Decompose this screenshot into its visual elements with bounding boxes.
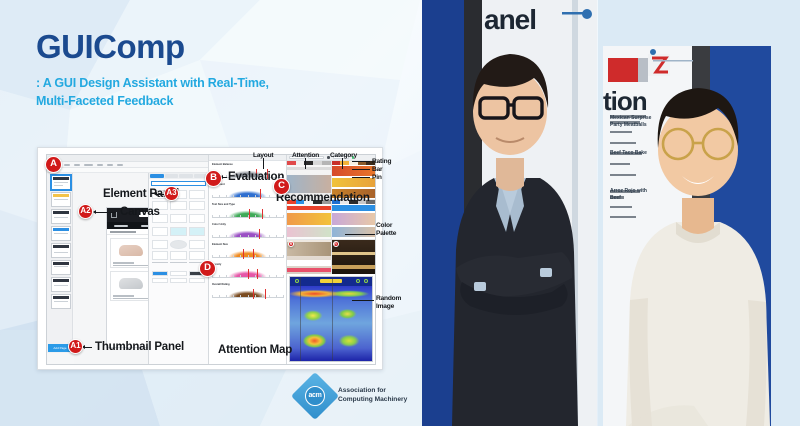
- product-card[interactable]: [110, 238, 152, 268]
- callout-attention-map: Attention Map: [218, 344, 292, 356]
- axis-tick: [255, 235, 256, 238]
- leader-line: [96, 212, 116, 213]
- axis-tick: [226, 295, 227, 298]
- axis-tick: [276, 295, 277, 298]
- axis-tick: [240, 255, 241, 258]
- axis-tick: [219, 195, 220, 198]
- axis-tick: [276, 275, 277, 278]
- button-tile-ghost[interactable]: [189, 278, 205, 283]
- evaluation-metric-row[interactable]: Element Size: [209, 241, 286, 261]
- thumbnail-item[interactable]: [51, 226, 71, 241]
- evaluation-rating-bar[interactable]: [212, 267, 283, 280]
- axis-tick: [219, 235, 220, 238]
- axis-tick: [240, 215, 241, 218]
- button-tile-primary[interactable]: [152, 271, 168, 276]
- axis-tick: [219, 255, 220, 258]
- evaluation-rating-bar[interactable]: [212, 287, 283, 300]
- callout-random-line-1: Random: [376, 295, 401, 302]
- random-image-badge: R: [288, 241, 294, 247]
- button-tile-ghost[interactable]: [170, 278, 186, 283]
- subtitle-line-1: : A GUI Design Assistant with Real-Time,: [36, 74, 269, 92]
- acm-wordmark: Association for Computing Machinery: [338, 387, 407, 405]
- evaluation-metric-label: Overall Rating: [212, 283, 283, 286]
- shape-tile-rect[interactable]: [152, 240, 168, 249]
- poster-item-2: Beef Taco Bake: [610, 150, 652, 156]
- element-tile[interactable]: [170, 227, 186, 236]
- axis-tick: [248, 255, 249, 258]
- axis-tick: [283, 255, 284, 258]
- axis-tick: [233, 195, 234, 198]
- callout-attention: Attention: [292, 152, 319, 160]
- badge-a2: A2: [78, 204, 93, 219]
- product-image: [111, 272, 151, 294]
- axis-tick: [283, 215, 284, 218]
- shape-tile-diagonal[interactable]: [189, 251, 205, 260]
- axis-tick: [233, 255, 234, 258]
- poster-text-left: anel: [484, 4, 536, 36]
- axis-tick: [269, 255, 270, 258]
- recommendation-preview: [287, 204, 331, 238]
- callout-random-image: Random Image: [376, 295, 401, 310]
- thumbnail-panel[interactable]: Add Page: [47, 173, 73, 353]
- callout-category: Category: [330, 152, 357, 160]
- axis-tick: [240, 235, 241, 238]
- recommendation-item-random[interactable]: R: [332, 240, 376, 274]
- leader-line: [352, 169, 370, 170]
- element-tile[interactable]: [152, 227, 168, 236]
- cart-icon: [364, 279, 368, 283]
- thumbnail-item[interactable]: [51, 294, 71, 309]
- axis-tick: [283, 235, 284, 238]
- shape-tile-circle[interactable]: [170, 240, 186, 249]
- left-content-pane: GUIComp : A GUI Design Assistant with Re…: [0, 0, 422, 426]
- callout-color-palette: Color Palette: [376, 222, 396, 237]
- acm-mark: acm: [305, 386, 325, 406]
- shape-tile-line[interactable]: [152, 262, 168, 267]
- callout-rating: Rating: [372, 158, 391, 166]
- shape-tile-diagonal[interactable]: [170, 251, 186, 260]
- leader-line: [342, 158, 343, 169]
- menu-item[interactable]: [64, 164, 70, 166]
- shape-tile-cross[interactable]: [152, 251, 168, 260]
- axis-tick: [248, 235, 249, 238]
- thumbnail-item[interactable]: [51, 175, 71, 190]
- evaluation-rating-bar[interactable]: [212, 187, 283, 200]
- callout-recommendation: Recommendation: [276, 192, 370, 204]
- badge-a3: A3: [164, 186, 179, 201]
- axis-tick: [226, 255, 227, 258]
- poster-item-3: Arroz Rojo with Beef: [610, 188, 652, 201]
- tab-media[interactable]: [179, 174, 193, 178]
- leader-line: [305, 158, 306, 169]
- axis-tick: [212, 195, 213, 198]
- element-tile[interactable]: [189, 227, 205, 236]
- rating-pin[interactable]: [257, 269, 258, 279]
- axis-tick: [233, 215, 234, 218]
- thumbnail-item[interactable]: [51, 260, 71, 275]
- axis-tick: [226, 235, 227, 238]
- guide-line: [300, 277, 301, 361]
- tab-chart[interactable]: [165, 174, 179, 178]
- thumbnail-item[interactable]: [51, 277, 71, 292]
- attention-map[interactable]: [289, 276, 373, 362]
- poster-text-right: tion: [603, 86, 647, 117]
- axis-tick: [212, 215, 213, 218]
- title-block: GUIComp : A GUI Design Assistant with Re…: [36, 30, 269, 110]
- photo-left-graphic: [422, 0, 597, 426]
- callout-canvas: Canvas: [120, 206, 160, 218]
- photo-right-graphic: [598, 0, 800, 426]
- element-tile[interactable]: [170, 214, 186, 223]
- axis-tick: [212, 255, 213, 258]
- leader-line: [352, 300, 374, 301]
- axis-tick: [262, 195, 263, 198]
- element-panel-tabs[interactable]: [149, 173, 208, 179]
- menu-item[interactable]: [84, 164, 93, 166]
- product-meta: [111, 261, 151, 267]
- rating-pin[interactable]: [253, 249, 254, 259]
- axis-tick: [212, 235, 213, 238]
- axis-tick: [212, 295, 213, 298]
- product-image: [111, 239, 151, 261]
- badge-d: D: [199, 260, 216, 277]
- badge-a1: A1: [68, 339, 83, 354]
- axis-tick: [240, 295, 241, 298]
- axis-tick: [276, 235, 277, 238]
- callout-color-line-2: Palette: [376, 230, 396, 237]
- axis-tick: [255, 215, 256, 218]
- axis-tick: [248, 295, 249, 298]
- menu-icon: [295, 279, 299, 283]
- axis-tick: [226, 195, 227, 198]
- presenter-photo-right: tion Mexican Surprise Party Meatballs Be…: [598, 0, 800, 426]
- shape-tile-square[interactable]: [189, 240, 205, 249]
- evaluation-metric-label: Density: [212, 263, 283, 266]
- evaluation-rating-bar[interactable]: [212, 207, 283, 220]
- page-title: GUIComp: [36, 30, 269, 63]
- subtitle-line-2: Multi-Faceted Feedback: [36, 92, 269, 110]
- axis-tick: [240, 275, 241, 278]
- axis-tick: [269, 295, 270, 298]
- axis-tick: [283, 295, 284, 298]
- rating-pin[interactable]: [248, 269, 249, 279]
- panel-a-editor: Add Page: [47, 155, 209, 364]
- evaluation-rating-bar[interactable]: [212, 227, 283, 240]
- axis-tick: [283, 275, 284, 278]
- axis-tick: [255, 195, 256, 198]
- evaluation-metric-label: Element Size: [212, 243, 283, 246]
- thumbnail-item[interactable]: [51, 209, 71, 224]
- rating-pin[interactable]: [259, 229, 260, 239]
- rating-pin[interactable]: [262, 209, 263, 219]
- recommendation-item-random[interactable]: R: [287, 240, 331, 274]
- rating-pin[interactable]: [253, 289, 254, 299]
- acm-diamond-icon: acm: [298, 379, 332, 413]
- menu-item[interactable]: [117, 164, 123, 166]
- axis-tick: [226, 275, 227, 278]
- leader-line: [345, 234, 375, 235]
- axis-tick: [233, 235, 234, 238]
- evaluation-metric-row[interactable]: Density: [209, 261, 286, 281]
- shape-tile-line[interactable]: [170, 262, 186, 267]
- axis-tick: [276, 215, 277, 218]
- badge-b: B: [205, 170, 222, 187]
- recommendation-item[interactable]: [287, 200, 331, 238]
- axis-tick: [269, 275, 270, 278]
- app-titlebar: [47, 155, 208, 162]
- callout-color-line-1: Color: [376, 222, 392, 229]
- axis-tick: [226, 215, 227, 218]
- leader-line: [85, 347, 92, 348]
- element-section-input: [149, 225, 208, 238]
- evaluation-metric-label: Element Balance: [212, 163, 283, 166]
- tab-basic[interactable]: [150, 174, 164, 178]
- evaluation-rating-bar[interactable]: [212, 247, 283, 260]
- menu-item[interactable]: [107, 164, 113, 166]
- evaluation-metric-row[interactable]: Color Unity: [209, 221, 286, 241]
- rating-pin[interactable]: [265, 289, 266, 299]
- page-subtitle: : A GUI Design Assistant with Real-Time,…: [36, 74, 269, 110]
- thumbnail-item[interactable]: [51, 192, 71, 207]
- axis-tick: [262, 235, 263, 238]
- badge-a: A: [45, 156, 62, 173]
- leader-line: [352, 161, 370, 162]
- leader-line: [263, 158, 264, 169]
- guide-line: [332, 277, 333, 361]
- axis-tick: [262, 275, 263, 278]
- axis-tick: [269, 215, 270, 218]
- thumbnail-item[interactable]: [51, 243, 71, 258]
- acm-logo: acm Association for Computing Machinery: [298, 379, 407, 413]
- search-icon: [356, 279, 360, 283]
- badge-c: C: [273, 178, 290, 195]
- axis-tick: [240, 195, 241, 198]
- axis-tick: [248, 195, 249, 198]
- button-tile-ghost[interactable]: [152, 278, 168, 283]
- axis-tick: [269, 195, 270, 198]
- menu-item[interactable]: [74, 164, 80, 166]
- random-image-badge: R: [333, 241, 339, 247]
- callout-thumbnail-panel: Thumbnail Panel: [95, 341, 184, 353]
- element-tile[interactable]: [189, 190, 205, 199]
- rating-pin[interactable]: [260, 189, 261, 199]
- poster-item-1: Mexican Surprise Party Meatballs: [610, 115, 652, 128]
- axis-tick: [255, 255, 256, 258]
- axis-tick: [219, 295, 220, 298]
- recommendation-item[interactable]: [332, 200, 376, 238]
- axis-tick: [233, 295, 234, 298]
- slide-canvas: GUIComp : A GUI Design Assistant with Re…: [0, 0, 800, 426]
- menu-item[interactable]: [97, 164, 103, 166]
- evaluation-metric-row[interactable]: Text Size and Type: [209, 201, 286, 221]
- axis-tick: [219, 215, 220, 218]
- axis-tick: [255, 295, 256, 298]
- acm-line-1: Association for: [338, 387, 407, 396]
- axis-tick: [233, 275, 234, 278]
- product-card[interactable]: [110, 271, 152, 301]
- rating-pin[interactable]: [249, 209, 250, 219]
- element-search-input[interactable]: [151, 181, 206, 186]
- axis-tick: [255, 275, 256, 278]
- callout-random-line-2: Image: [376, 303, 394, 310]
- evaluation-metric-label: Text Size and Type: [212, 203, 283, 206]
- acm-line-2: Computing Machinery: [338, 396, 407, 405]
- axis-tick: [262, 255, 263, 258]
- element-tile[interactable]: [189, 201, 205, 210]
- callout-layout: Layout: [253, 152, 273, 160]
- axis-tick: [219, 275, 220, 278]
- leader-line: [352, 177, 370, 178]
- presenter-photo-left: anel: [422, 0, 597, 426]
- product-meta: [111, 294, 151, 300]
- axis-tick: [276, 255, 277, 258]
- rating-pin[interactable]: [243, 249, 244, 259]
- callout-pin: Pin: [372, 174, 382, 182]
- leader-line: [223, 177, 227, 178]
- callout-bar: Bar: [372, 166, 382, 174]
- panel-cd-column: R R: [287, 155, 375, 364]
- evaluation-metric-label: Color Unity: [212, 223, 283, 226]
- axis-tick: [262, 295, 263, 298]
- evaluation-metric-row[interactable]: Overall Rating: [209, 281, 286, 301]
- axis-tick: [269, 235, 270, 238]
- element-tile[interactable]: [170, 201, 186, 210]
- figure-card: Add Page: [37, 147, 383, 370]
- element-tile[interactable]: [189, 214, 205, 223]
- button-tile-outline[interactable]: [170, 271, 186, 276]
- tab-best-sellers[interactable]: [114, 225, 128, 227]
